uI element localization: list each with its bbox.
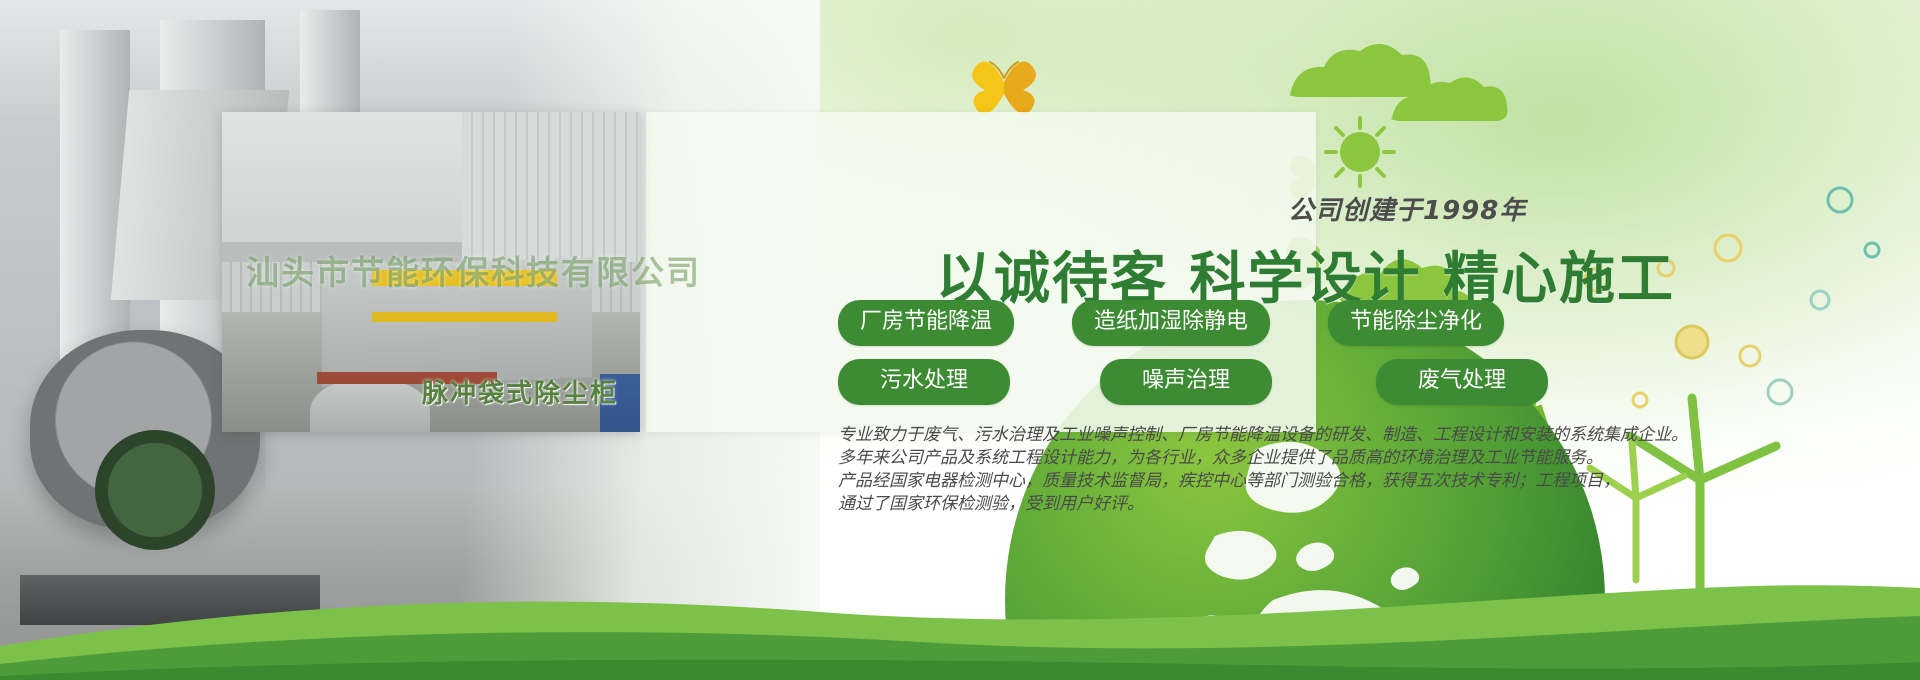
description-line: 专业致力于废气、污水治理及工业噪声控制、厂房节能降温设备的研发、制造、工程设计和… [838,424,1638,447]
cloud-icon [1391,77,1508,121]
established-label: 公司创建于1998年 [1288,190,1526,227]
service-pill-row: 厂房节能降温 造纸加湿除静电 节能除尘净化 [838,300,1618,346]
service-pill[interactable]: 噪声治理 [1100,359,1272,405]
service-pill[interactable]: 厂房节能降温 [838,300,1014,346]
sun-icon [1326,118,1394,186]
butterfly-icon [968,44,1040,116]
yellow-railing [372,312,557,322]
service-pill[interactable]: 造纸加湿除静电 [1072,300,1270,346]
service-pill[interactable]: 废气处理 [1376,359,1548,405]
hill-shapes [0,550,1920,680]
description-line: 产品经国家电器检测中心，质量技术监督局，疾控中心等部门测验合格，获得五次技术专利… [838,470,1638,493]
photo-caption: 脉冲袋式除尘柜 [422,373,618,410]
blower-motor [95,430,215,550]
service-pill-group: 厂房节能降温 造纸加湿除静电 节能除尘净化 污水处理 噪声治理 废气处理 [838,300,1618,418]
cyclone-body [310,380,430,432]
duct-column [60,30,130,480]
warehouse-roof [0,0,820,120]
description-line: 通过了国家环保检测验，受到用户好评。 [838,493,1638,516]
service-pill-row: 污水处理 噪声治理 废气处理 [838,359,1618,405]
promo-banner: 脉冲袋式除尘柜 汕头市节能环保科技有限公司 公司创建于1998年 以诚待客 科学… [0,0,1920,680]
product-photo: 脉冲袋式除尘柜 [222,112,640,432]
company-description: 专业致力于废气、污水治理及工业噪声控制、厂房节能降温设备的研发、制造、工程设计和… [838,424,1638,516]
yellow-railing [372,270,557,286]
service-pill[interactable]: 节能除尘净化 [1328,300,1504,346]
cloud-icon [1289,44,1431,97]
hill-decor [0,550,1920,680]
description-line: 多年来公司产品及系统工程设计能力，为各行业，众多企业提供了品质高的环境治理及工业… [838,447,1638,470]
service-pill[interactable]: 污水处理 [838,359,1010,405]
